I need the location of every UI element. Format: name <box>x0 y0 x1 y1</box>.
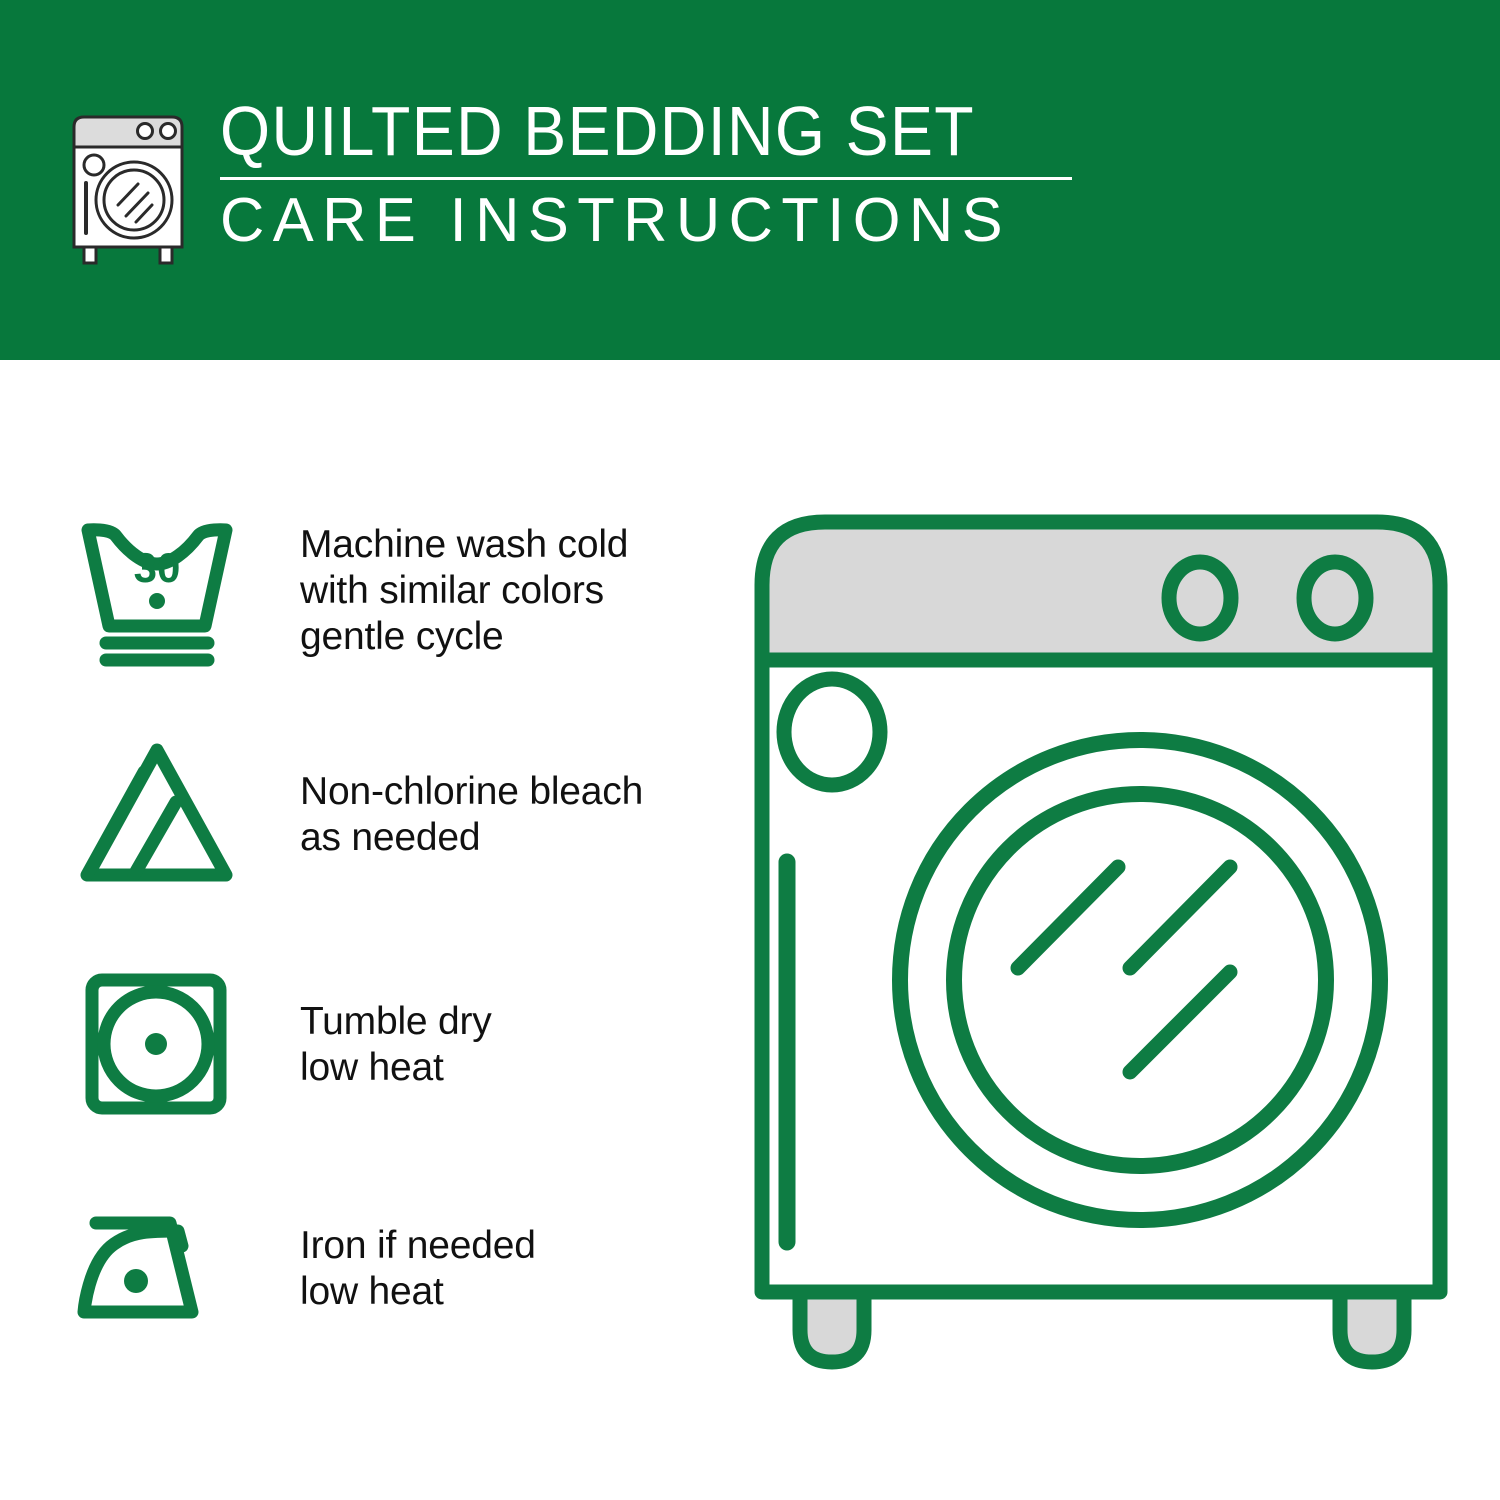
wash-basin-30-gentle-icon: 30 <box>70 508 245 673</box>
care-text-line: as needed <box>300 815 643 861</box>
door-latch <box>784 679 880 785</box>
care-text-line: Non-chlorine bleach <box>300 769 643 815</box>
page-subtitle: CARE INSTRUCTIONS <box>220 188 1071 254</box>
header-banner: QUILTED BEDDING SET CARE INSTRUCTIONS <box>0 0 1500 360</box>
front-load-washing-machine-illustration <box>740 470 1460 1420</box>
dial-right <box>1304 562 1366 634</box>
care-text-line: Machine wash cold <box>300 522 628 568</box>
care-text-line: with similar colors <box>300 568 628 614</box>
tumble-dry-low-heat-icon <box>70 962 245 1127</box>
header-title-group: QUILTED BEDDING SET CARE INSTRUCTIONS <box>220 95 1080 254</box>
care-item-iron-text: Iron if needed low heat <box>245 1223 536 1315</box>
title-divider <box>220 177 1072 180</box>
dial-left <box>1169 562 1231 634</box>
care-item-tumble-dry-text: Tumble dry low heat <box>245 999 492 1091</box>
wash-temperature-label: 30 <box>134 544 181 591</box>
care-item-machine-wash-text: Machine wash cold with similar colors ge… <box>245 522 628 660</box>
care-text-line: Tumble dry <box>300 999 492 1045</box>
care-text-line: low heat <box>300 1269 536 1315</box>
care-item-bleach: Non-chlorine bleach as needed <box>70 732 730 897</box>
care-text-line: gentle cycle <box>300 614 628 660</box>
care-item-iron: Iron if needed low heat <box>70 1186 730 1351</box>
care-text-line: Iron if needed <box>300 1223 536 1269</box>
header-content: QUILTED BEDDING SET CARE INSTRUCTIONS <box>60 95 1040 275</box>
care-text-line: low heat <box>300 1045 492 1091</box>
page-title: QUILTED BEDDING SET <box>220 95 1011 167</box>
care-instructions-list: 30 Machine wash cold with similar colors… <box>0 360 740 1500</box>
care-item-bleach-text: Non-chlorine bleach as needed <box>245 769 643 861</box>
washing-machine-icon <box>60 105 200 265</box>
non-chlorine-bleach-triangle-icon <box>70 732 245 897</box>
iron-low-heat-icon <box>70 1186 245 1351</box>
care-item-tumble-dry: Tumble dry low heat <box>70 962 730 1127</box>
care-item-machine-wash: 30 Machine wash cold with similar colors… <box>70 508 730 673</box>
